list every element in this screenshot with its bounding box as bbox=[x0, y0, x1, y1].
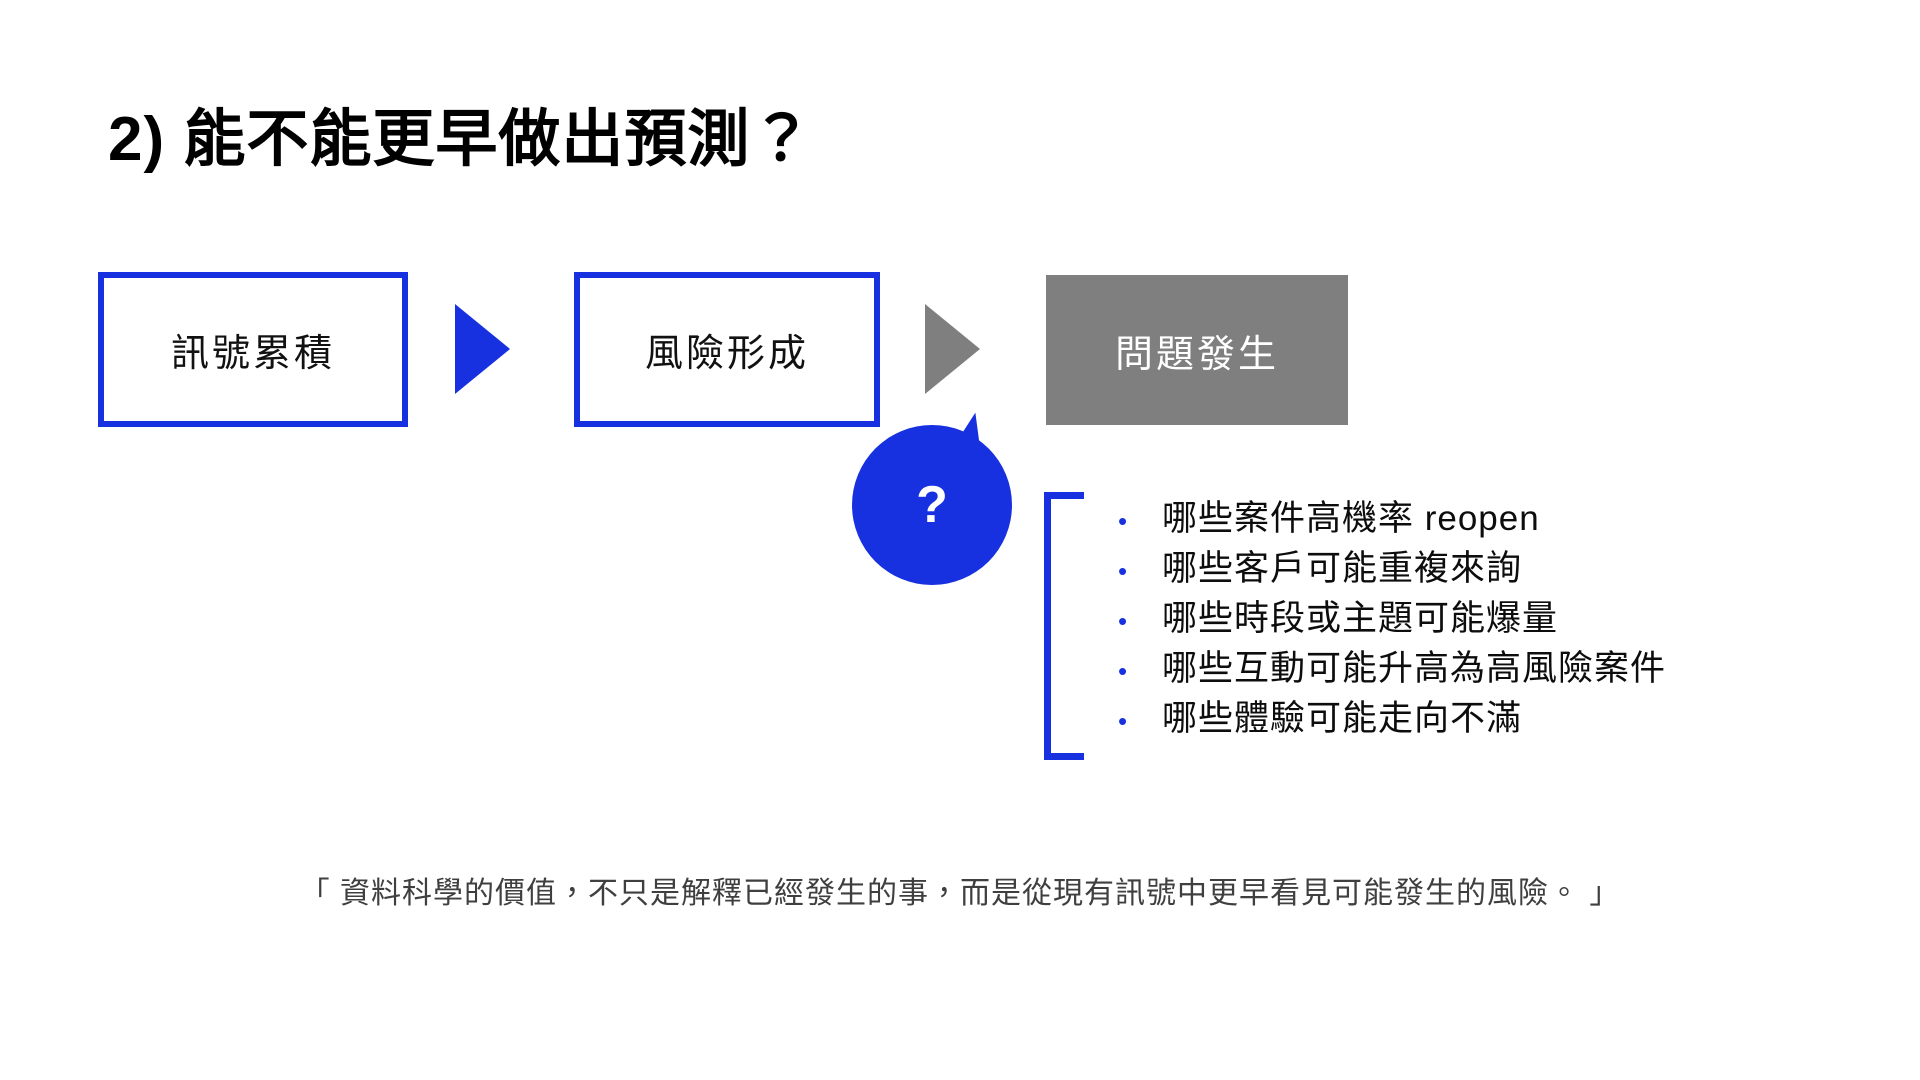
flow-step-signal-accumulation[interactable]: 訊號累積 bbox=[98, 272, 408, 427]
page-title: 2) 能不能更早做出預測？ bbox=[108, 104, 813, 175]
list-item[interactable]: • 哪些體驗可能走向不滿 bbox=[1118, 690, 1666, 740]
list-item[interactable]: • 哪些客戶可能重複來詢 bbox=[1118, 540, 1666, 590]
footer-quote: 「 資料科學的價值，不只是解釋已經發生的事，而是從現有訊號中更早看見可能發生的風… bbox=[0, 868, 1920, 912]
question-mark-icon: ? bbox=[852, 425, 1012, 585]
flow-step-label: 訊號累積 bbox=[171, 322, 335, 377]
list-item-label: 哪些客戶可能重複來詢 bbox=[1162, 540, 1522, 591]
flow-step-label: 問題發生 bbox=[1115, 323, 1279, 378]
bullet-icon: • bbox=[1118, 658, 1162, 684]
list-item-label: 哪些體驗可能走向不滿 bbox=[1162, 690, 1522, 741]
bullet-icon: • bbox=[1118, 508, 1162, 534]
list-item-label: 哪些互動可能升高為高風險案件 bbox=[1162, 640, 1666, 691]
question-bubble[interactable]: ? bbox=[852, 425, 1012, 585]
list-item-label: 哪些時段或主題可能爆量 bbox=[1162, 590, 1558, 641]
bullet-icon: • bbox=[1118, 558, 1162, 584]
flow-arrow-right-icon bbox=[455, 304, 510, 394]
list-item[interactable]: • 哪些互動可能升高為高風險案件 bbox=[1118, 640, 1666, 690]
prediction-list-group: • 哪些案件高機率 reopen • 哪些客戶可能重複來詢 • 哪些時段或主題可… bbox=[1044, 492, 1744, 760]
left-bracket-icon bbox=[1044, 492, 1084, 760]
bullet-icon: • bbox=[1118, 608, 1162, 634]
list-item[interactable]: • 哪些案件高機率 reopen bbox=[1118, 490, 1666, 540]
flow-arrow-right-icon bbox=[925, 304, 980, 394]
bullet-icon: • bbox=[1118, 708, 1162, 734]
list-item-label: 哪些案件高機率 reopen bbox=[1162, 490, 1540, 541]
flow-step-label: 風險形成 bbox=[645, 322, 809, 377]
list-item[interactable]: • 哪些時段或主題可能爆量 bbox=[1118, 590, 1666, 640]
flow-step-problem-occurrence[interactable]: 問題發生 bbox=[1046, 275, 1348, 425]
flow-step-risk-formation[interactable]: 風險形成 bbox=[574, 272, 880, 427]
slide-canvas: 2) 能不能更早做出預測？ 訊號累積 風險形成 問題發生 ? • 哪些案件高機率… bbox=[0, 0, 1920, 1080]
prediction-list: • 哪些案件高機率 reopen • 哪些客戶可能重複來詢 • 哪些時段或主題可… bbox=[1118, 490, 1666, 740]
